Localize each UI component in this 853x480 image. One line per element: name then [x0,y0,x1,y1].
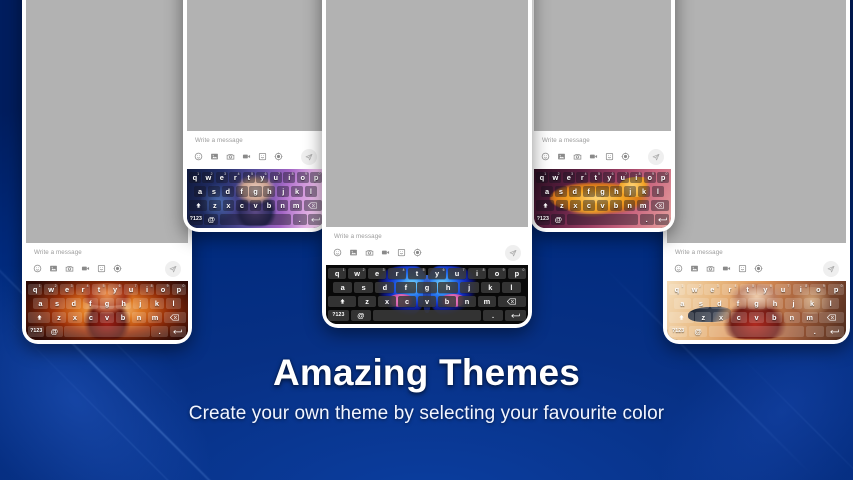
key-c[interactable]: c [84,312,98,324]
key-v[interactable]: v [250,200,262,212]
backspace-key[interactable] [304,200,322,212]
key-m[interactable]: m [148,312,162,324]
message-input[interactable]: Write a message [33,248,181,261]
key-a[interactable]: a [333,282,352,294]
phone-mockup-1: Write a message 1q2w3e4r5t6y7u8i9o0pasdf… [22,0,192,344]
key-f[interactable]: f [730,298,747,310]
at-key[interactable]: @ [46,326,62,338]
message-input[interactable]: Write a message [194,136,317,149]
symbols-key[interactable]: ?123 [669,326,687,338]
keyboard-row-4: ?123@. [189,214,322,226]
subheadline-text: Create your own theme by selecting your … [0,403,853,425]
keyboard: 1q2w3e4r5t6y7u8i9o0pasdfghjklzxcvbnm?123… [326,265,528,324]
key-a[interactable]: a [33,298,48,310]
emoji-icon[interactable] [33,264,42,273]
at-key[interactable]: @ [551,214,565,226]
compose-actions [674,261,839,277]
image-icon[interactable] [49,264,58,273]
phone-screen: Write a message 1q2w3e4r5t6y7u8i9o0pasdf… [326,0,528,324]
key-j[interactable]: j [624,186,636,198]
phone-mockup-3: Write a message 1q2w3e4r5t6y7u8i9o0pasdf… [322,0,532,328]
key-c[interactable]: c [236,200,248,212]
phone-mockup-4: Write a message 1q2w3e4r5t6y7u8i9o0pasdf… [530,0,675,232]
compose-icon-group [194,152,301,161]
key-w[interactable]: 2w [202,172,214,184]
send-button[interactable] [823,261,839,277]
key-w[interactable]: 2w [687,284,703,296]
keyboard-row-3: zxcvbnm [536,200,669,212]
location-icon[interactable] [754,264,763,273]
key-r[interactable]: 4r [722,284,738,296]
phone-mockup-2: Write a message 1q2w3e4r5t6y7u8i9o0pasdf… [183,0,328,232]
keyboard-row-3: zxcvbnm [328,296,526,308]
headline-text: Amazing Themes [0,352,853,394]
key-i[interactable]: 8i [793,284,809,296]
key-p[interactable]: 0p [657,172,669,184]
key-m[interactable]: m [802,312,818,324]
key-w[interactable]: 2w [348,268,366,280]
backspace-key[interactable] [819,312,844,324]
key-t[interactable]: 5t [92,284,106,296]
emoji-icon[interactable] [333,248,342,257]
compose-bar: Write a message [667,243,846,281]
shift-key[interactable] [328,296,356,308]
key-s[interactable]: s [208,186,220,198]
key-v[interactable]: v [597,200,609,212]
send-button[interactable] [301,149,317,165]
chat-conversation-area [667,0,846,243]
key-z[interactable]: z [209,200,221,212]
space-key[interactable] [709,326,804,338]
key-x[interactable]: x [378,296,396,308]
image-icon[interactable] [349,248,358,257]
keyboard: 1q2w3e4r5t6y7u8i9o0pasdfghjklzxcvbnm?123… [26,281,188,340]
video-icon[interactable] [589,152,598,161]
key-k[interactable]: k [804,298,821,310]
period-key[interactable]: . [151,326,167,338]
enter-key[interactable] [505,310,526,322]
key-y[interactable]: 6y [108,284,122,296]
key-a[interactable]: a [194,186,206,198]
keyboard-row-4: ?123@. [28,326,186,338]
key-s[interactable]: s [354,282,373,294]
compose-bar: Write a message [534,131,671,169]
video-icon[interactable] [242,152,251,161]
shift-key[interactable] [669,312,694,324]
key-l[interactable]: l [305,186,317,198]
location-icon[interactable] [274,152,283,161]
key-p[interactable]: 0p [508,268,526,280]
chat-conversation-area [187,0,324,131]
image-icon[interactable] [690,264,699,273]
emoji-icon[interactable] [194,152,203,161]
key-e[interactable]: 3e [60,284,74,296]
key-g[interactable]: g [596,186,608,198]
key-u[interactable]: 7u [270,172,282,184]
key-m[interactable]: m [478,296,496,308]
compose-icon-group [33,264,165,273]
keyboard-row-2: asdfghjkl [328,282,526,294]
compose-actions [194,149,317,165]
phone-screen: Write a message 1q2w3e4r5t6y7u8i9o0pasdf… [534,0,671,228]
key-f[interactable]: f [396,282,415,294]
key-o[interactable]: 9o [644,172,656,184]
key-g[interactable]: g [249,186,261,198]
key-o[interactable]: 9o [297,172,309,184]
keyboard-row-1: 1q2w3e4r5t6y7u8i9o0p [328,268,526,280]
key-r[interactable]: 4r [76,284,90,296]
key-h[interactable]: h [263,186,275,198]
key-o[interactable]: 9o [488,268,506,280]
key-l[interactable]: l [822,298,839,310]
key-f[interactable]: f [236,186,248,198]
keyboard: 1q2w3e4r5t6y7u8i9o0pasdfghjklzxcvbnm?123… [667,281,846,340]
key-q[interactable]: 1q [189,172,201,184]
send-button[interactable] [505,245,521,261]
key-z[interactable]: z [556,200,568,212]
key-c[interactable]: c [583,200,595,212]
key-u[interactable]: 7u [617,172,629,184]
key-x[interactable]: x [713,312,729,324]
key-j[interactable]: j [460,282,479,294]
keyboard-row-1: 1q2w3e4r5t6y7u8i9o0p [189,172,322,184]
key-u[interactable]: 7u [448,268,466,280]
key-j[interactable]: j [133,298,148,310]
key-n[interactable]: n [458,296,476,308]
compose-bar: Write a message [326,227,528,265]
key-u[interactable]: 7u [775,284,791,296]
key-m[interactable]: m [290,200,302,212]
compose-bar: Write a message [187,131,324,169]
key-g[interactable]: g [417,282,436,294]
key-q[interactable]: 1q [536,172,548,184]
message-input[interactable]: Write a message [333,232,521,245]
symbols-key[interactable]: ?123 [328,310,349,322]
key-b[interactable]: b [116,312,130,324]
camera-icon[interactable] [65,264,74,273]
symbols-key[interactable]: ?123 [189,214,203,226]
backspace-key[interactable] [498,296,526,308]
location-icon[interactable] [621,152,630,161]
keyboard-row-3: zxcvbnm [189,200,322,212]
key-s[interactable]: s [555,186,567,198]
sticker-icon[interactable] [97,264,106,273]
enter-key[interactable] [308,214,322,226]
space-key[interactable] [567,214,638,226]
compose-actions [333,245,521,261]
camera-icon[interactable] [365,248,374,257]
key-n[interactable]: n [277,200,289,212]
key-q[interactable]: 1q [669,284,685,296]
key-s[interactable]: s [693,298,710,310]
key-t[interactable]: 5t [408,268,426,280]
phone-screen: Write a message 1q2w3e4r5t6y7u8i9o0pasdf… [26,0,188,340]
phone-screen: Write a message 1q2w3e4r5t6y7u8i9o0pasdf… [187,0,324,228]
phone-screen: Write a message 1q2w3e4r5t6y7u8i9o0pasdf… [667,0,846,340]
key-h[interactable]: h [610,186,622,198]
send-button[interactable] [165,261,181,277]
keyboard-row-2: asdfghjkl [189,186,322,198]
chat-conversation-area [534,0,671,131]
keyboard-row-3: zxcvbnm [28,312,186,324]
key-g[interactable]: g [748,298,765,310]
period-key[interactable]: . [483,310,504,322]
key-d[interactable]: d [66,298,81,310]
at-key[interactable]: @ [204,214,218,226]
key-h[interactable]: h [116,298,131,310]
key-a[interactable]: a [541,186,553,198]
key-i[interactable]: 8i [283,172,295,184]
sticker-icon[interactable] [605,152,614,161]
at-key[interactable]: @ [689,326,707,338]
key-o[interactable]: 9o [156,284,170,296]
key-v[interactable]: v [749,312,765,324]
key-o[interactable]: 9o [810,284,826,296]
symbols-key[interactable]: ?123 [536,214,550,226]
key-v[interactable]: v [418,296,436,308]
key-y[interactable]: 6y [428,268,446,280]
key-w[interactable]: 2w [44,284,58,296]
camera-icon[interactable] [706,264,715,273]
key-c[interactable]: c [731,312,747,324]
key-b[interactable]: b [263,200,275,212]
key-n[interactable]: n [132,312,146,324]
keyboard-row-1: 1q2w3e4r5t6y7u8i9o0p [536,172,669,184]
video-icon[interactable] [381,248,390,257]
video-icon[interactable] [81,264,90,273]
key-i[interactable]: 8i [630,172,642,184]
key-d[interactable]: d [222,186,234,198]
compose-actions [541,149,664,165]
symbols-key[interactable]: ?123 [28,326,44,338]
keyboard-row-1: 1q2w3e4r5t6y7u8i9o0p [28,284,186,296]
period-key[interactable]: . [806,326,824,338]
key-j[interactable]: j [785,298,802,310]
keyboard-row-1: 1q2w3e4r5t6y7u8i9o0p [669,284,844,296]
key-l[interactable]: l [652,186,664,198]
key-q[interactable]: 1q [328,268,346,280]
compose-icon-group [674,264,823,273]
key-y[interactable]: 6y [603,172,615,184]
key-t[interactable]: 5t [740,284,756,296]
key-i[interactable]: 8i [140,284,154,296]
key-d[interactable]: d [569,186,581,198]
key-b[interactable]: b [766,312,782,324]
message-input[interactable]: Write a message [674,248,839,261]
chat-conversation-area [26,0,188,243]
key-r[interactable]: 4r [388,268,406,280]
key-f[interactable]: f [83,298,98,310]
shift-key[interactable] [28,312,50,324]
keyboard-row-2: asdfghjkl [28,298,186,310]
key-k[interactable]: k [150,298,165,310]
image-icon[interactable] [557,152,566,161]
key-r[interactable]: 4r [576,172,588,184]
sticker-icon[interactable] [258,152,267,161]
key-r[interactable]: 4r [229,172,241,184]
space-key[interactable] [373,310,481,322]
keyboard-row-2: asdfghjkl [536,186,669,198]
key-f[interactable]: f [583,186,595,198]
key-x[interactable]: x [68,312,82,324]
key-a[interactable]: a [674,298,691,310]
key-e[interactable]: 3e [216,172,228,184]
key-z[interactable]: z [52,312,66,324]
key-b[interactable]: b [438,296,456,308]
space-key[interactable] [64,326,149,338]
keyboard: 1q2w3e4r5t6y7u8i9o0pasdfghjklzxcvbnm?123… [534,169,671,228]
key-k[interactable]: k [291,186,303,198]
at-key[interactable]: @ [351,310,372,322]
key-m[interactable]: m [637,200,649,212]
emoji-icon[interactable] [674,264,683,273]
camera-icon[interactable] [226,152,235,161]
backspace-key[interactable] [651,200,669,212]
key-p[interactable]: 0p [310,172,322,184]
backspace-key[interactable] [164,312,186,324]
keyboard-row-3: zxcvbnm [669,312,844,324]
compose-bar: Write a message [26,243,188,281]
key-d[interactable]: d [375,282,394,294]
period-key[interactable]: . [293,214,307,226]
key-x[interactable]: x [570,200,582,212]
space-key[interactable] [220,214,291,226]
image-icon[interactable] [210,152,219,161]
shift-key[interactable] [189,200,207,212]
key-d[interactable]: d [711,298,728,310]
key-p[interactable]: 0p [172,284,186,296]
phone-mockup-5: Write a message 1q2w3e4r5t6y7u8i9o0pasdf… [663,0,850,344]
message-input[interactable]: Write a message [541,136,664,149]
key-z[interactable]: z [358,296,376,308]
chat-conversation-area [326,0,528,227]
compose-actions [33,261,181,277]
key-q[interactable]: 1q [28,284,42,296]
key-l[interactable]: l [166,298,181,310]
key-v[interactable]: v [100,312,114,324]
key-u[interactable]: 7u [124,284,138,296]
key-b[interactable]: b [610,200,622,212]
key-l[interactable]: l [502,282,521,294]
key-y[interactable]: 6y [757,284,773,296]
compose-icon-group [333,248,505,257]
enter-key[interactable] [826,326,844,338]
keyboard-row-4: ?123@. [536,214,669,226]
key-y[interactable]: 6y [256,172,268,184]
keyboard-row-2: asdfghjkl [669,298,844,310]
period-key[interactable]: . [640,214,654,226]
keyboard: 1q2w3e4r5t6y7u8i9o0pasdfghjklzxcvbnm?123… [187,169,324,228]
compose-icon-group [541,152,648,161]
key-s[interactable]: s [50,298,65,310]
key-h[interactable]: h [438,282,457,294]
keyboard-row-4: ?123@. [669,326,844,338]
enter-key[interactable] [655,214,669,226]
key-h[interactable]: h [767,298,784,310]
key-e[interactable]: 3e [368,268,386,280]
key-t[interactable]: 5t [590,172,602,184]
key-k[interactable]: k [638,186,650,198]
key-n[interactable]: n [624,200,636,212]
key-k[interactable]: k [481,282,500,294]
key-e[interactable]: 3e [563,172,575,184]
video-icon[interactable] [722,264,731,273]
location-icon[interactable] [413,248,422,257]
key-j[interactable]: j [277,186,289,198]
key-n[interactable]: n [784,312,800,324]
key-t[interactable]: 5t [243,172,255,184]
key-z[interactable]: z [695,312,711,324]
key-e[interactable]: 3e [704,284,720,296]
sticker-icon[interactable] [738,264,747,273]
key-i[interactable]: 8i [468,268,486,280]
key-p[interactable]: 0p [828,284,844,296]
keyboard-row-4: ?123@. [328,310,526,322]
key-x[interactable]: x [223,200,235,212]
shift-key[interactable] [536,200,554,212]
key-w[interactable]: 2w [549,172,561,184]
key-g[interactable]: g [100,298,115,310]
key-c[interactable]: c [398,296,416,308]
send-button[interactable] [648,149,664,165]
camera-icon[interactable] [573,152,582,161]
enter-key[interactable] [170,326,186,338]
location-icon[interactable] [113,264,122,273]
emoji-icon[interactable] [541,152,550,161]
sticker-icon[interactable] [397,248,406,257]
